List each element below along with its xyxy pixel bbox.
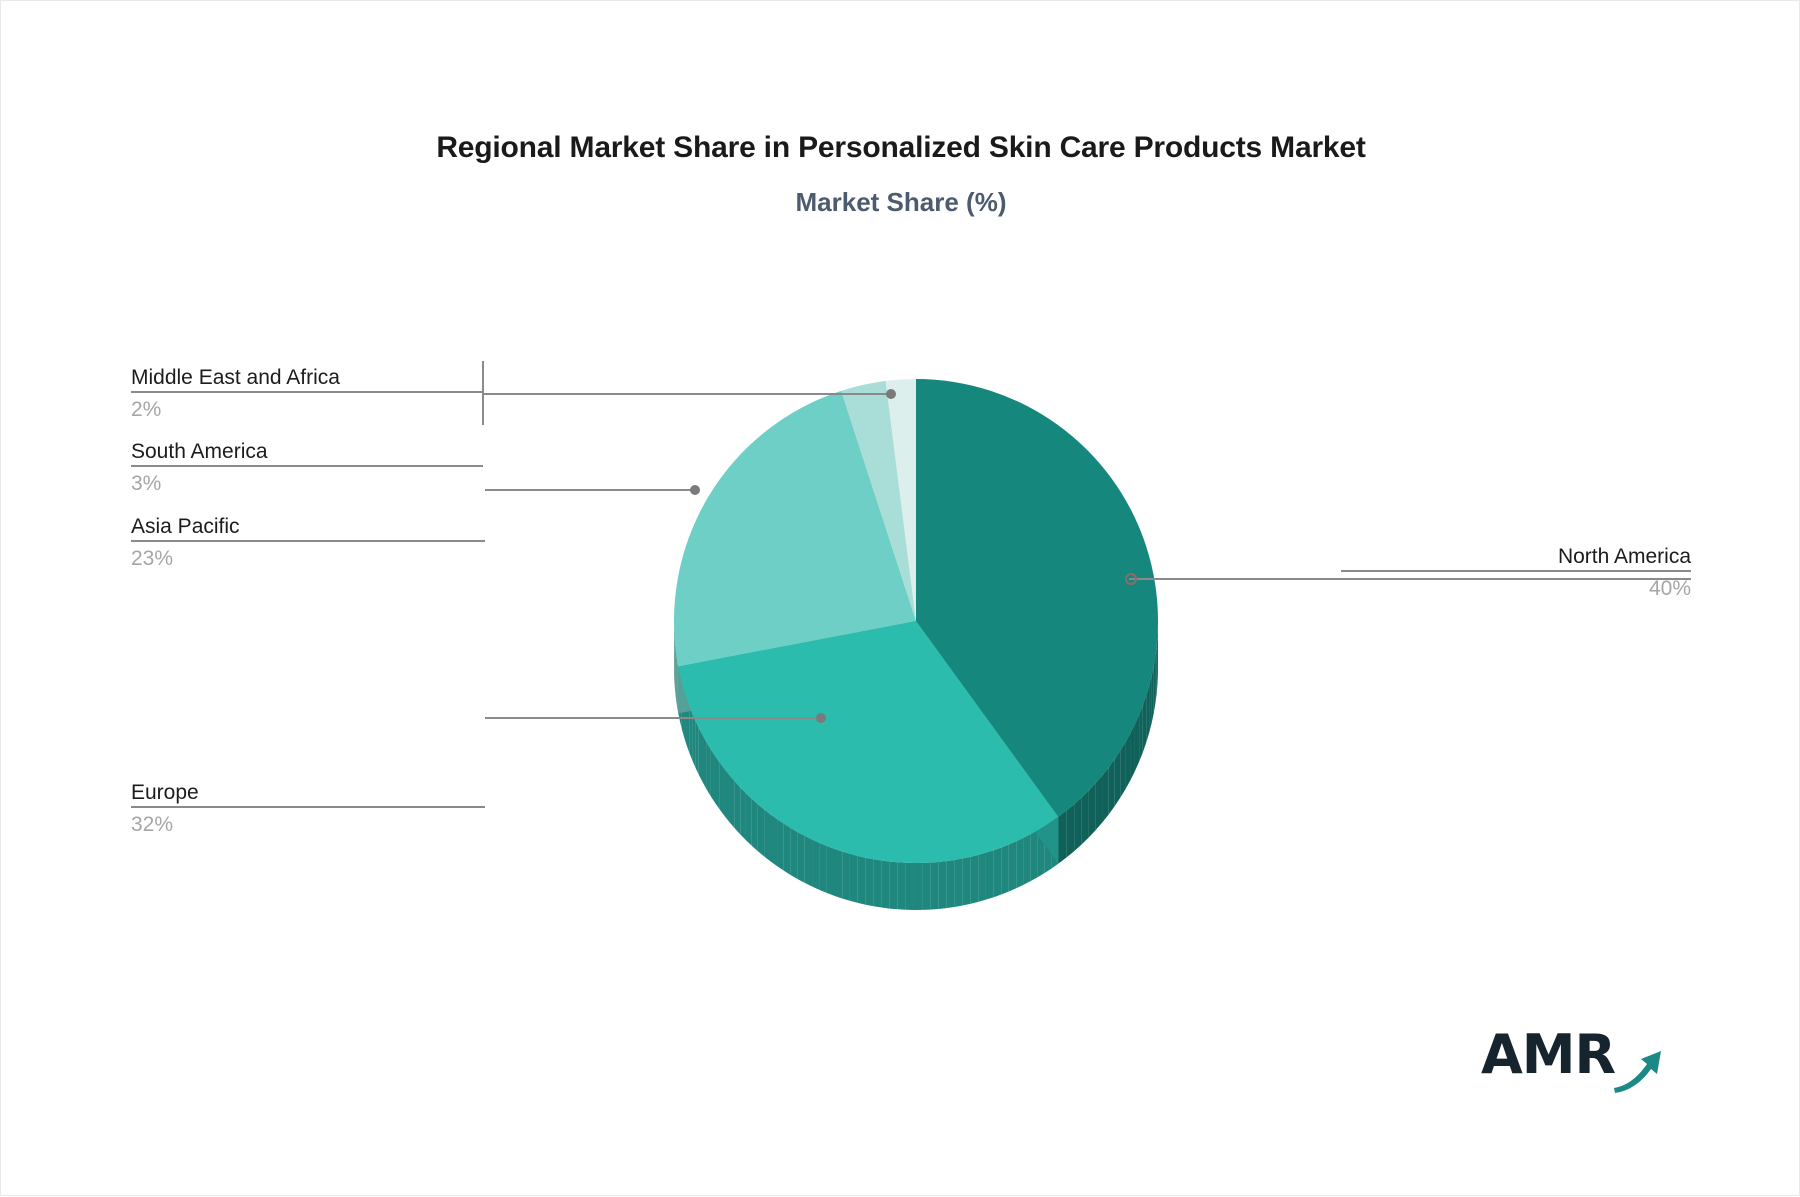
pie-depth-north-america — [1139, 705, 1143, 761]
pie-depth-europe — [994, 847, 1002, 897]
pie-depth-europe — [819, 843, 826, 893]
chart-canvas: Regional Market Share in Personalized Sk… — [0, 0, 1800, 1196]
pie-depth-europe — [777, 819, 784, 871]
pie-depth-europe — [970, 855, 978, 904]
pie-depth-north-america — [1120, 742, 1125, 798]
pie-depth-europe — [946, 860, 954, 908]
pie-depth-asia-pacific — [676, 655, 677, 708]
pie-depth-europe — [906, 863, 914, 910]
pie-depth-north-america — [1143, 696, 1146, 753]
pie-depth-europe — [835, 849, 843, 899]
pie-depth-europe — [842, 851, 850, 900]
pie-depth-north-america — [1149, 676, 1152, 733]
label-south-america[interactable]: South America 3% — [131, 438, 483, 497]
label-pct-eu: 32% — [131, 808, 485, 838]
pie-depth-europe — [798, 832, 805, 883]
pie-depth-europe — [874, 859, 882, 907]
pie-depth-europe — [702, 735, 706, 789]
pie-depth-europe — [938, 861, 946, 909]
pie-depth-europe — [1016, 838, 1023, 888]
pie-depth-europe — [706, 742, 710, 796]
pie-depth-europe — [758, 804, 764, 856]
label-pct-sa: 3% — [131, 467, 483, 497]
pie-depth-asia-pacific — [677, 661, 678, 714]
pie-depth-asia-pacific — [675, 643, 676, 696]
pie-depth-europe — [699, 728, 703, 782]
pie-depth-europe — [882, 861, 890, 909]
label-europe[interactable]: Europe 32% — [131, 779, 485, 838]
pie-depth-europe — [978, 853, 986, 902]
pie-depth-europe — [740, 787, 746, 840]
label-pct-mea: 2% — [131, 393, 483, 423]
pie-depth-north-america — [1146, 686, 1149, 743]
label-middle-east-and-africa[interactable]: Middle East and Africa 2% — [131, 364, 483, 423]
label-asia-pacific[interactable]: Asia Pacific 23% — [131, 513, 485, 572]
pie-depth-europe — [724, 769, 729, 822]
pie-depth-north-america — [1126, 733, 1131, 789]
growth-arrow-icon — [1481, 1026, 1671, 1096]
pie-depth-north-america — [1089, 783, 1096, 837]
pie-depth-europe — [715, 756, 720, 810]
pie-depth-europe — [784, 824, 791, 875]
pie-depth-europe — [986, 850, 994, 899]
pie-depth-europe — [692, 713, 695, 767]
pie-depth-europe — [914, 863, 922, 910]
label-pct-ap: 23% — [131, 542, 485, 572]
pie-depth-europe — [898, 862, 906, 909]
pie-depth-north-america — [1135, 715, 1139, 771]
pie-depth-europe — [689, 705, 692, 760]
pie-depth-europe — [827, 846, 835, 896]
pie-depth-europe — [850, 854, 858, 903]
pie-depth-north-america — [1066, 804, 1074, 857]
pie-depth-north-america — [1115, 751, 1121, 806]
label-name-ap: Asia Pacific — [131, 513, 485, 540]
pie-depth-europe — [720, 762, 725, 816]
pie-depth-north-america — [1058, 811, 1066, 864]
label-name-mea: Middle East and Africa — [131, 364, 483, 391]
pie-depth-europe — [752, 799, 758, 851]
label-pct-na: 40% — [1341, 572, 1691, 602]
pie-depth-europe — [695, 720, 698, 774]
pie-depth-europe — [730, 775, 735, 828]
amr-logo: AMR — [1481, 1026, 1671, 1096]
label-name-na: North America — [1341, 543, 1691, 570]
label-name-eu: Europe — [131, 779, 485, 806]
label-north-america[interactable]: North America 40% — [1341, 543, 1691, 602]
pie-depth-europe — [922, 863, 930, 910]
pie-depth-north-america — [1082, 790, 1089, 844]
pie-depth-europe — [866, 858, 874, 907]
pie-depth-europe — [1031, 830, 1038, 881]
label-name-sa: South America — [131, 438, 483, 465]
pie-depth-europe — [711, 749, 715, 803]
pie-depth-europe — [791, 828, 798, 879]
pie-depth-north-america — [1102, 767, 1108, 822]
pie-depth-north-america — [1096, 775, 1103, 830]
pie-depth-europe — [962, 857, 970, 906]
pie-depth-north-america — [1109, 759, 1115, 814]
pie-depth-north-america — [1074, 797, 1082, 851]
pie-depth-europe — [746, 793, 752, 846]
pie-depth-europe — [770, 814, 777, 866]
pie-depth-europe — [805, 836, 812, 887]
pie-depth-europe — [954, 859, 962, 907]
pie-depth-europe — [1024, 834, 1031, 885]
pie-depth-europe — [1009, 841, 1016, 891]
pie-depth-europe — [812, 840, 819, 890]
pie-depth-asia-pacific — [676, 649, 677, 702]
pie-depth-europe — [1001, 844, 1009, 894]
pie-depth-europe — [764, 809, 770, 861]
pie-depth-europe — [858, 856, 866, 905]
pie-depth-europe — [930, 862, 938, 910]
pie-depth-north-america — [1130, 724, 1135, 780]
pie-depth-europe — [735, 781, 740, 834]
pie-depth-europe — [890, 862, 898, 910]
